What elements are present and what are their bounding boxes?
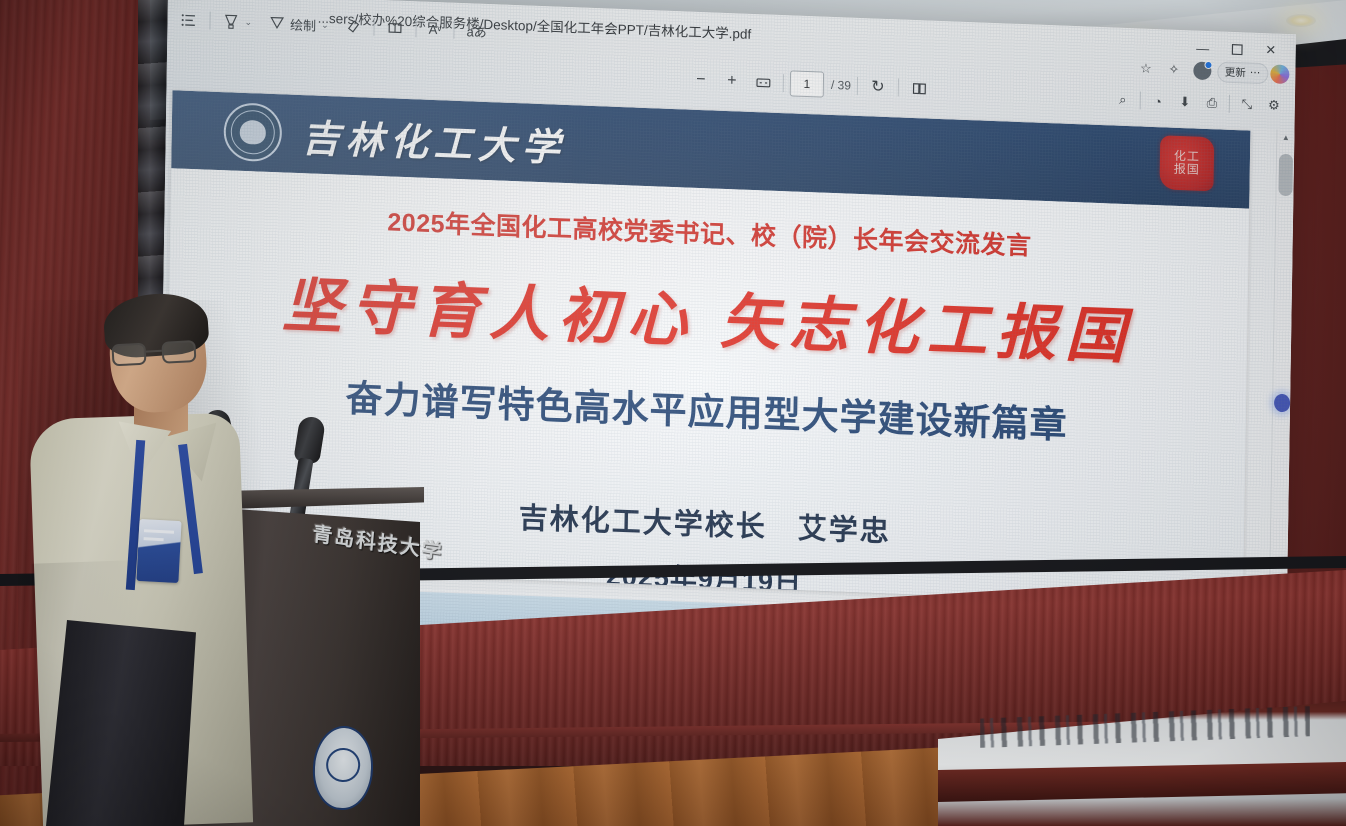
toolbar-divider [374,18,375,36]
draw-label: 绘制 [290,14,316,34]
fit-page-button[interactable] [749,69,777,96]
maximize-icon [1228,40,1245,58]
search-button[interactable]: ⌕ [1110,87,1136,112]
settings-button[interactable]: ⚙ [1261,93,1287,118]
read-aloud-icon-button[interactable]: ◔ [1145,89,1171,114]
total-pages-label: / 39 [831,78,851,93]
toolbar-divider [209,12,210,30]
seal-inner-mark [240,120,266,145]
university-name: 吉林化工大学 [301,107,566,172]
avatar [1193,61,1211,80]
copilot-icon[interactable] [1270,64,1289,84]
page-layout-button[interactable] [905,75,933,102]
read-aloud-button[interactable]: Aᵛ [421,14,448,45]
close-button[interactable]: ✕ [1254,37,1288,64]
draw-caret: ⌄ [321,19,329,30]
text-box-icon [387,19,404,37]
fit-page-icon [754,74,771,92]
minimize-button[interactable]: — [1186,34,1220,61]
eraser-icon [345,17,362,35]
toolbar-divider [898,78,899,96]
zoom-in-button[interactable]: + [718,68,746,95]
podium-university-text: 青岛科技大学 [307,517,423,612]
glasses-bridge [146,350,162,353]
window-controls: — ✕ [1186,34,1288,64]
toolbar-divider [416,19,417,37]
slide-blue-subtitle: 奋力谱写特色高水平应用型大学建设新篇章 [167,361,1246,455]
presenter-glasses-icon [111,340,204,369]
mic-body [289,457,313,519]
scroll-up-arrow[interactable]: ▲ [1282,130,1290,146]
rotate-button[interactable]: ↻ [864,73,892,100]
university-seal-icon [223,102,282,162]
page-layout-icon [910,79,927,97]
translate-button[interactable]: aあ [459,15,494,46]
scrollbar-thumb[interactable] [1278,154,1293,197]
slide-main-title: 坚守育人初心 矢志化工报国 [168,252,1247,379]
red-seal-stamp: 化工报国 [1159,135,1214,191]
update-more-icon: ⋯ [1250,67,1261,79]
conference-room-photo: ...sers/校办%20综合服务楼/Desktop/全国化工年会PPT/吉林化… [0,0,1346,826]
add-text-button[interactable] [379,12,410,43]
toolbar-divider [857,77,858,95]
zoom-out-button[interactable]: − [687,67,715,94]
draw-button[interactable]: 绘制 ⌄ [261,8,336,41]
save-button[interactable]: ⬇ [1172,90,1198,115]
table-of-contents-button[interactable] [173,4,204,35]
maximize-button[interactable] [1220,35,1254,62]
print-button[interactable]: ⎙ [1199,91,1225,116]
toolbar-divider [783,74,784,92]
badge-line [144,537,164,541]
glasses-lens-left [111,343,146,367]
profile-button[interactable] [1189,58,1215,83]
highlighter-icon [222,13,239,31]
update-button[interactable]: 更新 ⋯ [1217,61,1269,84]
favorite-button[interactable]: ☆ [1133,56,1159,81]
contents-icon [180,11,197,29]
highlight-button[interactable]: ⌄ [215,6,259,38]
badge-line [144,529,174,534]
toolbar-divider [1140,91,1141,109]
toolbar-divider [453,21,454,39]
stamp-text: 化工报国 [1174,150,1200,176]
toolbar-divider [1229,95,1230,113]
update-label: 更新 [1225,64,1246,80]
fullscreen-button[interactable]: ⤡ [1234,92,1260,117]
presenter-body-shading [31,556,250,826]
scroll-position-indicator[interactable] [1274,394,1290,413]
ceiling-downlight [1286,14,1316,27]
highlight-caret: ⌄ [244,16,252,27]
collections-button[interactable]: ✧ [1161,57,1187,82]
pen-icon [268,14,285,32]
page-number-input[interactable] [790,70,824,97]
glasses-lens-right [161,340,196,364]
erase-button[interactable] [337,10,368,41]
